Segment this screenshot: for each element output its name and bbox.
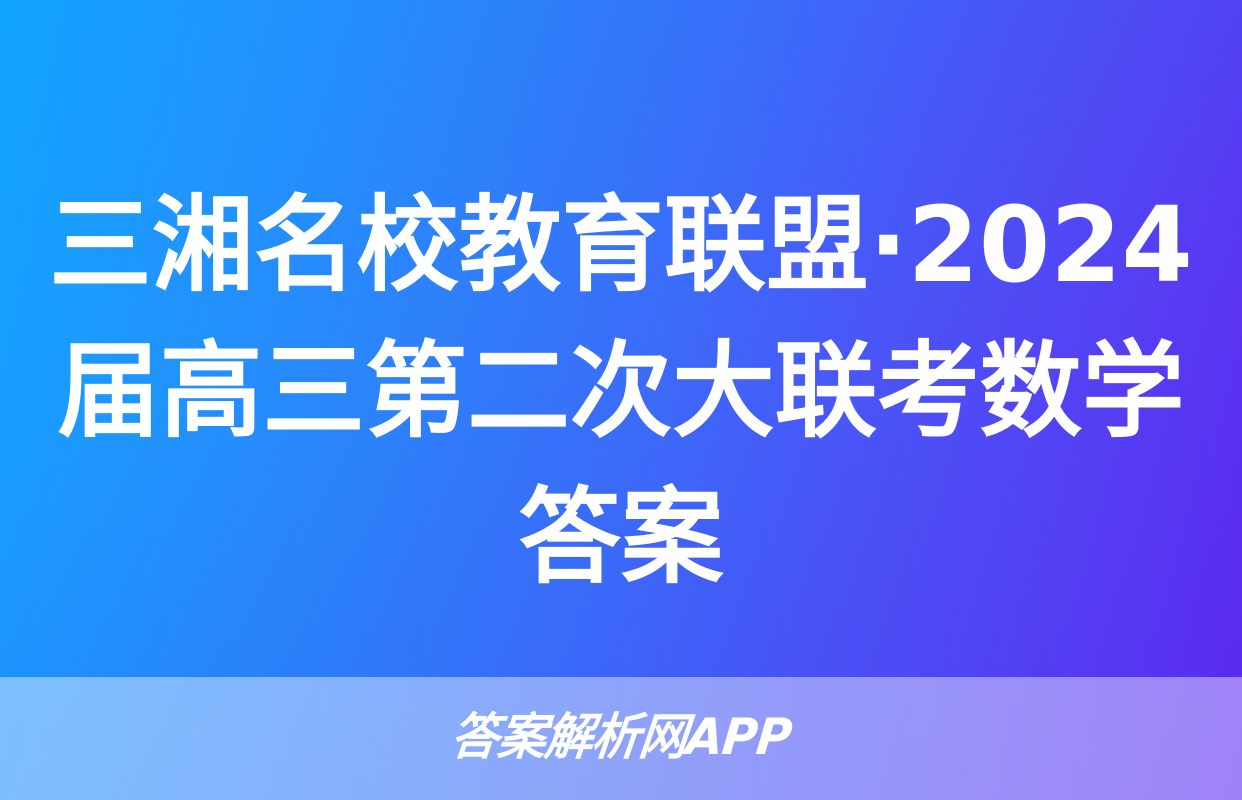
title-line-3: 答案 — [9, 464, 1232, 610]
watermark-label: 答案解析网APP — [21, 702, 1221, 772]
poster-title: 三湘名校教育联盟·2024 届高三第二次大联考数学 答案 — [0, 172, 1242, 610]
title-line-1: 三湘名校教育联盟·2024 — [9, 172, 1232, 318]
title-line-2: 届高三第二次大联考数学 — [9, 318, 1232, 464]
poster-canvas: 三湘名校教育联盟·2024 届高三第二次大联考数学 答案 答案解析网APP — [0, 0, 1242, 800]
